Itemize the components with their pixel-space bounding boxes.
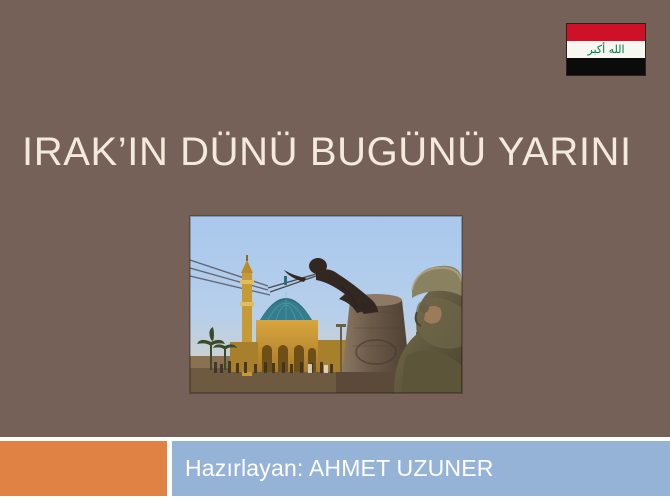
accent-bar-orange [0, 441, 167, 496]
photo-illustration [190, 216, 462, 393]
flag-stripe-red [567, 24, 645, 41]
iraq-flag-icon: الله أكبر [566, 23, 646, 76]
flag-stripe-black [567, 58, 645, 75]
firdos-square-photo [190, 216, 462, 393]
flag-takbir-text: الله أكبر [567, 41, 645, 58]
slide-subtitle: Hazırlayan: AHMET UZUNER [185, 441, 655, 496]
presentation-slide: الله أكبر IRAK’IN DÜNÜ BUGÜNÜ YARINI [0, 0, 670, 503]
slide-title: IRAK’IN DÜNÜ BUGÜNÜ YARINI [22, 126, 648, 178]
